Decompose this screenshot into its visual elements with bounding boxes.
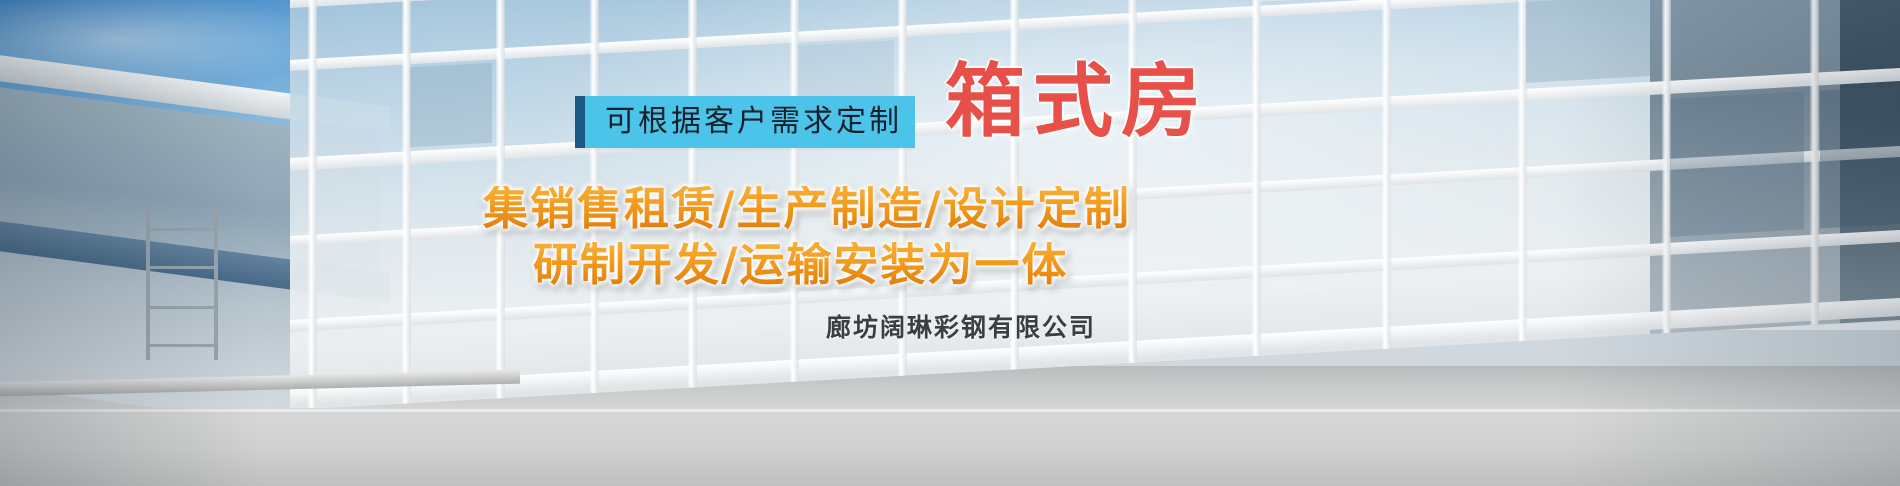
banner-text-overlay: 可根据客户需求定制 箱式房 集销售租赁/生产制造/设计定制 研制开发/运输安装为…: [0, 0, 1900, 486]
company-name: 廊坊阔琳彩钢有限公司: [826, 308, 1096, 344]
custom-order-badge: 可根据客户需求定制: [575, 96, 915, 148]
slogan-line-2: 研制开发/运输安装为一体: [533, 242, 1068, 287]
promo-banner: 可根据客户需求定制 箱式房 集销售租赁/生产制造/设计定制 研制开发/运输安装为…: [0, 0, 1900, 486]
badge-accent-bar: [575, 96, 585, 148]
banner-title: 箱式房: [945, 62, 1209, 142]
slogan-line-1: 集销售租赁/生产制造/设计定制: [483, 186, 1131, 231]
badge-label: 可根据客户需求定制: [575, 96, 902, 148]
